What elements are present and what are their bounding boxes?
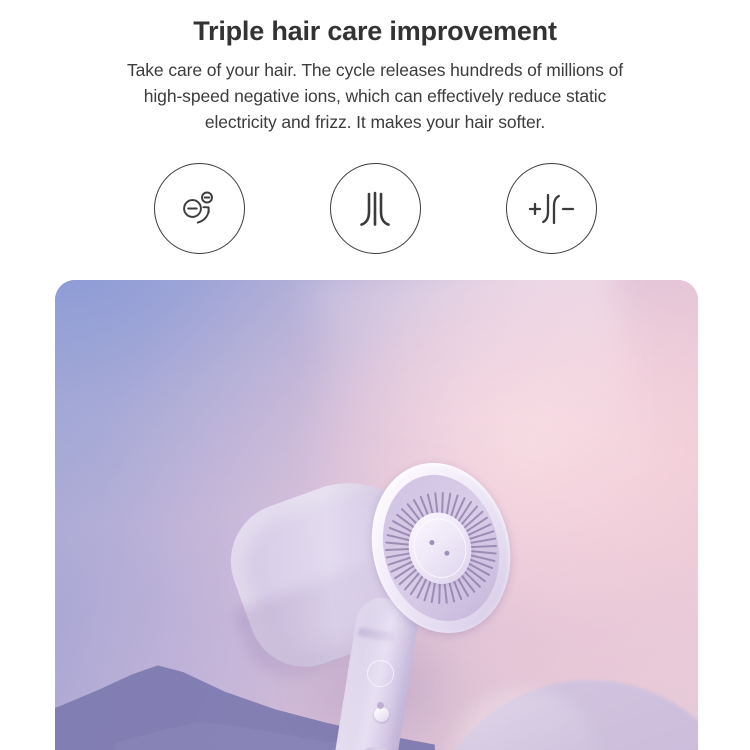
feature-badge-negative-ion <box>154 163 245 254</box>
product-image-panel <box>55 280 698 750</box>
dryer-mode-indicator[interactable] <box>374 707 389 722</box>
smooth-hair-strands-icon <box>353 185 397 233</box>
negative-ion-icon <box>175 185 223 233</box>
subtitle-line-2: high-speed negative ions, which can effe… <box>45 83 705 109</box>
feature-badge-anti-static <box>506 163 597 254</box>
hair-dryer-product <box>55 280 698 750</box>
feature-icon-row <box>0 163 750 254</box>
subtitle-line-1: Take care of your hair. The cycle releas… <box>45 57 705 83</box>
subtitle-line-3: electricity and frizz. It makes your hai… <box>45 109 705 135</box>
page-subtitle: Take care of your hair. The cycle releas… <box>45 57 705 135</box>
feature-badge-smooth-hair <box>330 163 421 254</box>
header-section: Triple hair care improvement Take care o… <box>0 0 750 135</box>
anti-static-balance-icon <box>524 186 578 232</box>
page-title: Triple hair care improvement <box>0 14 750 48</box>
